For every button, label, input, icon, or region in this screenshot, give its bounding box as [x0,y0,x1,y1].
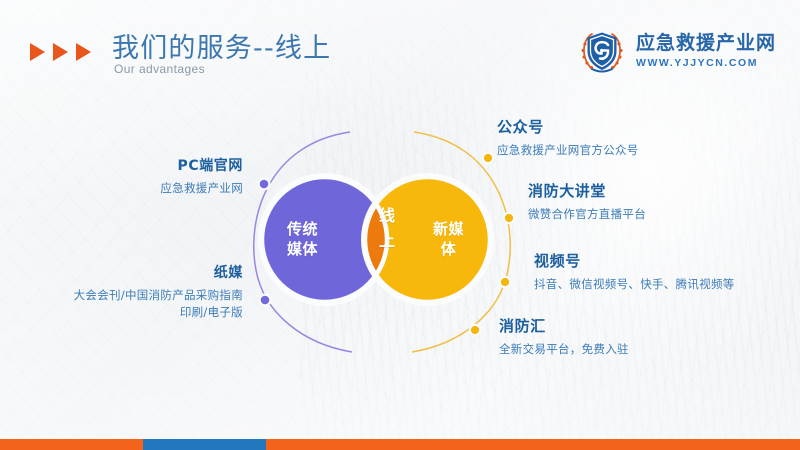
label-desc: 微赞合作官方直播平台 [528,206,646,222]
label-desc: 抖音、微信视频号、快手、腾讯视频等 [534,276,735,292]
page-subtitle: Our advantages [114,62,205,76]
label-title: 公众号 [497,116,639,137]
label-title: 消防大讲堂 [528,180,646,201]
label-video-account[interactable]: 视频号 抖音、微信视频号、快手、腾讯视频等 [534,250,735,292]
brand-website: WWW.YJJYCN.COM [636,57,776,69]
brand-text-block: 应急救援产业网 WWW.YJJYCN.COM [636,33,776,69]
label-desc-line2: 印刷/电子版 [74,304,243,320]
brand-name: 应急救援产业网 [636,33,776,54]
triangle-right-icon [76,43,91,61]
header-arrows [30,43,91,61]
triangle-right-icon [53,43,68,61]
footer-accent-bar [0,439,800,450]
footer-segment-blue [143,439,266,450]
label-desc: 应急救援产业网官方公众号 [497,142,639,158]
label-official-account[interactable]: 公众号 应急救援产业网官方公众号 [497,116,639,158]
label-fire-hub[interactable]: 消防汇 全新交易平台，免费入驻 [499,315,629,357]
label-desc: 应急救援产业网 [160,180,243,196]
page-title: 我们的服务--线上 [112,26,331,65]
shield-laurel-emblem-icon [577,26,627,76]
label-pc-website[interactable]: PC端官网 应急救援产业网 [160,155,243,196]
footer-segment-orange-right [266,439,800,450]
label-desc: 全新交易平台，免费入驻 [499,341,629,357]
label-print-media[interactable]: 纸媒 大会会刊/中国消防产品采购指南 印刷/电子版 [74,262,243,320]
venn-center-label: 线上 [367,204,407,254]
slide-canvas: 我们的服务--线上 Our advantages [0,0,800,450]
connector-dot-right-2 [504,213,514,223]
label-fire-lecture-hall[interactable]: 消防大讲堂 微赞合作官方直播平台 [528,180,646,222]
triangle-right-icon [30,43,45,61]
label-title: 视频号 [534,250,735,271]
label-title: 纸媒 [74,262,243,282]
site-logo[interactable]: 应急救援产业网 WWW.YJJYCN.COM [577,26,776,76]
label-desc-line1: 大会会刊/中国消防产品采购指南 [74,287,243,303]
footer-segment-orange-left [0,439,143,450]
label-title: 消防汇 [499,315,629,336]
label-title: PC端官网 [160,155,243,175]
